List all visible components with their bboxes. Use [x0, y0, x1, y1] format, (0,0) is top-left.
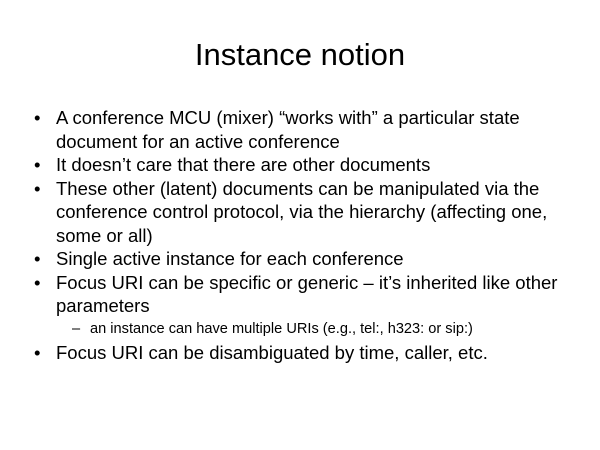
bullet-point-icon: •	[30, 106, 56, 130]
list-item: • Focus URI can be disambiguated by time…	[30, 341, 575, 365]
bullet-point-icon: •	[30, 177, 56, 201]
list-item-text: These other (latent) documents can be ma…	[56, 177, 575, 248]
list-item: • Focus URI can be specific or generic –…	[30, 271, 575, 318]
bullet-point-icon: •	[30, 153, 56, 177]
list-item-text: Focus URI can be specific or generic – i…	[56, 271, 575, 318]
list-item-text: A conference MCU (mixer) “works with” a …	[56, 106, 575, 153]
dash-bullet-icon: –	[72, 318, 90, 341]
sub-list-item: – an instance can have multiple URIs (e.…	[30, 318, 575, 341]
bullet-point-icon: •	[30, 271, 56, 295]
list-item: • It doesn’t care that there are other d…	[30, 153, 575, 177]
sub-list-item-text: an instance can have multiple URIs (e.g.…	[90, 318, 575, 341]
bullet-point-icon: •	[30, 341, 56, 365]
list-item: • These other (latent) documents can be …	[30, 177, 575, 248]
list-item: • A conference MCU (mixer) “works with” …	[30, 106, 575, 153]
list-item-text: It doesn’t care that there are other doc…	[56, 153, 575, 177]
list-item-text: Focus URI can be disambiguated by time, …	[56, 341, 575, 365]
bullet-point-icon: •	[30, 247, 56, 271]
list-item: • Single active instance for each confer…	[30, 247, 575, 271]
slide-canvas: Instance notion • A conference MCU (mixe…	[0, 0, 600, 450]
list-item-text: Single active instance for each conferen…	[56, 247, 575, 271]
bullet-list: • A conference MCU (mixer) “works with” …	[30, 106, 575, 364]
page-title: Instance notion	[0, 36, 600, 74]
